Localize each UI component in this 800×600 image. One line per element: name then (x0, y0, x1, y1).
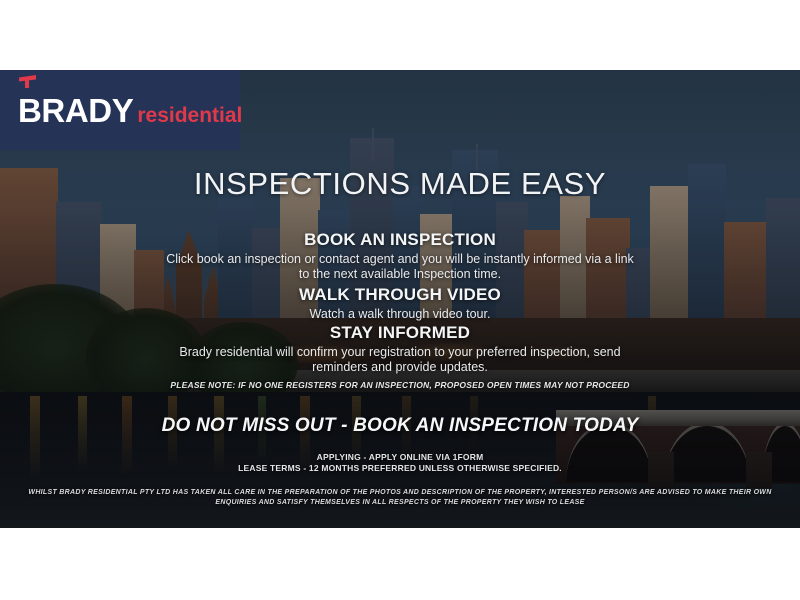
call-to-action-text: DO NOT MISS OUT - BOOK AN INSPECTION TOD… (0, 415, 800, 437)
section-body: Click book an inspection or contact agen… (165, 252, 635, 282)
applying-line: APPLYING - APPLY ONLINE VIA 1FORM (0, 452, 800, 463)
banner-copy: INSPECTIONS MADE EASY BOOK AN INSPECTION… (0, 70, 800, 528)
section-title: WALK THROUGH VIDEO (0, 285, 800, 305)
section-body: Watch a walk through video tour. (165, 307, 635, 322)
application-terms: APPLYING - APPLY ONLINE VIA 1FORM LEASE … (0, 452, 800, 474)
banner-headline: INSPECTIONS MADE EASY (0, 166, 800, 202)
section-body: Brady residential will confirm your regi… (165, 345, 635, 375)
section-book-an-inspection: BOOK AN INSPECTION Click book an inspect… (0, 230, 800, 282)
please-note-text: PLEASE NOTE: IF NO ONE REGISTERS FOR AN … (0, 380, 800, 390)
page-canvas: BRADY residential INSPECTIONS MADE EASY … (0, 0, 800, 600)
section-stay-informed: STAY INFORMED Brady residential will con… (0, 323, 800, 375)
legal-disclaimer: WHILST BRADY RESIDENTIAL PTY LTD HAS TAK… (0, 488, 800, 508)
section-title: STAY INFORMED (0, 323, 800, 343)
promotional-banner: BRADY residential INSPECTIONS MADE EASY … (0, 70, 800, 528)
section-title: BOOK AN INSPECTION (0, 230, 800, 250)
lease-terms-line: LEASE TERMS - 12 MONTHS PREFERRED UNLESS… (0, 463, 800, 474)
section-walk-through-video: WALK THROUGH VIDEO Watch a walk through … (0, 285, 800, 322)
